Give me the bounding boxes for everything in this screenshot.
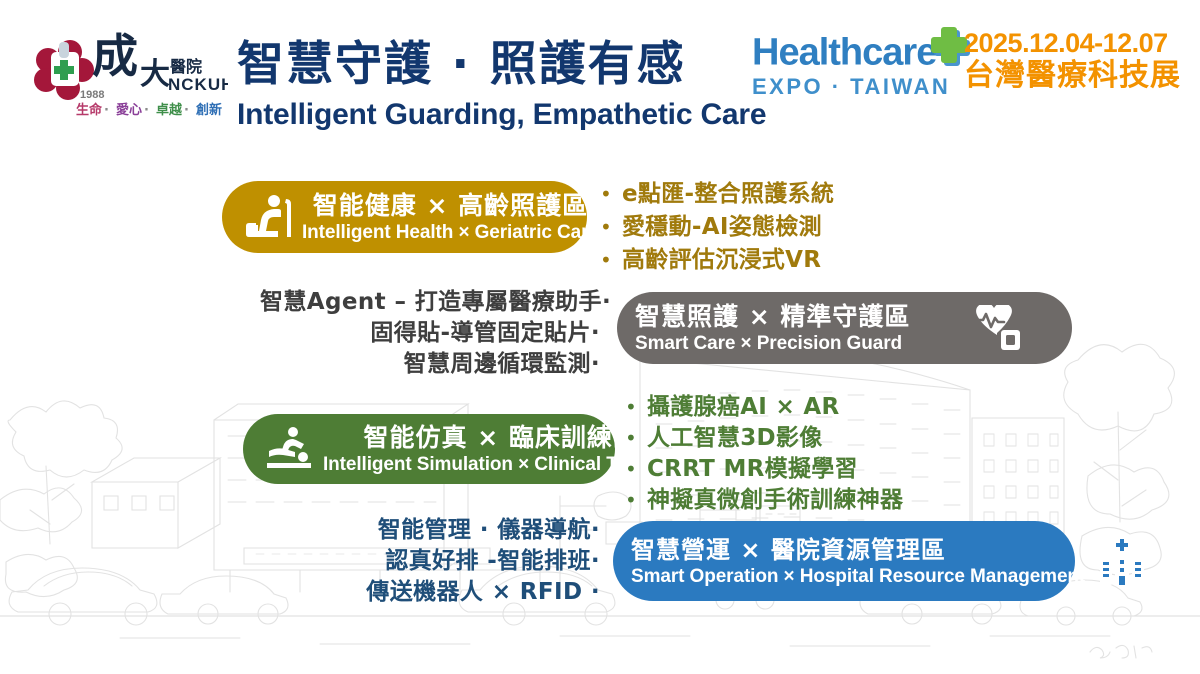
- poster-canvas: 成 大 醫院 NCKUH 1988 生命 · 愛心 · 卓越 · 創新: [0, 0, 1200, 674]
- page-title-en: Intelligent Guarding, Empathetic Care: [237, 96, 766, 134]
- list-item: 智能管理 · 儀器導航·: [330, 515, 600, 546]
- list-item-label: 愛穩動-AI姿態檢測: [622, 211, 822, 244]
- list-item: • 神擬真微創手術訓練神器: [625, 485, 903, 516]
- expo-name-zh: 台灣醫療科技展: [964, 59, 1194, 93]
- logo-hospital-zh: 醫院: [170, 57, 202, 76]
- logo-cheng-glyph: 成: [92, 29, 138, 83]
- section-title-zh: 智能仿真 × 臨床訓練區: [363, 423, 638, 453]
- expo-healthcare-wordmark: Healthcare®: [752, 28, 948, 73]
- list-item: • 人工智慧3D影像: [625, 423, 903, 454]
- cpr-simulation-training-icon: [267, 427, 317, 471]
- feature-list-clinical-training: • 攝護腺癌AI × AR • 人工智慧3D影像 • CRRT MR模擬學習 •…: [625, 392, 903, 516]
- elderly-person-with-cane-icon: [244, 193, 296, 241]
- bullet-icon: •: [625, 392, 647, 423]
- page-title-zh: 智慧守護 · 照護有感: [237, 36, 766, 94]
- list-item: 智慧周邊循環監測·: [260, 349, 600, 380]
- tagline-part-4: 創新: [195, 102, 222, 118]
- expo-taiwan-subtitle: EXPO · TAIWAN: [752, 74, 948, 100]
- list-item-label: 攝護腺癌AI × AR: [647, 392, 839, 423]
- poster-title-block: 智慧守護 · 照護有感 Intelligent Guarding, Empath…: [237, 36, 766, 134]
- list-item: • 攝護腺癌AI × AR: [625, 392, 903, 423]
- list-item: 傳送機器人 × RFID ·: [330, 577, 600, 608]
- nckuh-hospital-logo: 成 大 醫院 NCKUH 1988 生命 · 愛心 · 卓越 · 創新: [18, 22, 228, 120]
- tagline-part-1: 生命: [76, 102, 103, 118]
- feature-list-hospital-resource-management: 智能管理 · 儀器導航· 認真好排 -智能排班· 傳送機器人 × RFID ·: [330, 515, 600, 608]
- expo-date-range: 2025.12.04-12.07: [964, 28, 1194, 58]
- list-item-label: 人工智慧3D影像: [647, 423, 823, 454]
- section-pill-clinical-training[interactable]: 智能仿真 × 臨床訓練區 Intelligent Simulation × Cl…: [243, 414, 615, 484]
- section-title-en: Smart Operation × Hospital Resource Mana…: [631, 565, 1085, 588]
- heart-pulse-monitor-icon: [974, 305, 1022, 351]
- bullet-icon: •: [600, 211, 622, 244]
- tagline-part-3: 卓越: [156, 102, 183, 118]
- section-title-zh: 智慧營運 × 醫院資源管理區: [631, 535, 946, 565]
- list-item: • CRRT MR模擬學習: [625, 454, 903, 485]
- section-title-en: Intelligent Health × Geriatric Care: [302, 221, 599, 244]
- feature-list-precision-guard: 智慧Agent – 打造專屬醫療助手· 固得貼-導管固定貼片· 智慧周邊循環監測…: [260, 287, 600, 380]
- tagline-part-2: 愛心: [116, 102, 142, 118]
- bullet-icon: •: [625, 485, 647, 516]
- poster-header: 成 大 醫院 NCKUH 1988 生命 · 愛心 · 卓越 · 創新: [0, 0, 1200, 160]
- section-title-zh: 智慧照護 × 精準守護區: [635, 302, 910, 332]
- section-pill-precision-guard[interactable]: 智慧照護 × 精準守護區 Smart Care × Precision Guar…: [617, 292, 1072, 364]
- healthcare-expo-logo: Healthcare® EXPO · TAIWAN 2025.12.04-12.…: [752, 28, 1192, 110]
- svg-text:·: ·: [104, 103, 109, 118]
- list-item: 固得貼-導管固定貼片·: [260, 318, 600, 349]
- section-pill-hospital-resource-management[interactable]: 智慧營運 × 醫院資源管理區 Smart Operation × Hospita…: [613, 521, 1075, 601]
- section-title-en: Smart Care × Precision Guard: [635, 332, 902, 355]
- logo-founding-year: 1988: [80, 89, 104, 101]
- section-title-zh: 智能健康 × 高齡照護區: [313, 191, 588, 221]
- logo-da-glyph: 大: [140, 57, 170, 92]
- list-item-label: e點匯-整合照護系統: [622, 178, 834, 211]
- list-item-label: 高齡評估沉浸式VR: [622, 244, 821, 277]
- svg-text:·: ·: [144, 103, 149, 118]
- bullet-icon: •: [600, 178, 622, 211]
- bullet-icon: •: [600, 244, 622, 277]
- bullet-icon: •: [625, 454, 647, 485]
- list-item: • 高齡評估沉浸式VR: [600, 244, 834, 277]
- bullet-icon: •: [625, 423, 647, 454]
- list-item: • e點匯-整合照護系統: [600, 178, 834, 211]
- list-item: • 愛穩動-AI姿態檢測: [600, 211, 834, 244]
- svg-text:·: ·: [184, 103, 189, 118]
- list-item-label: CRRT MR模擬學習: [647, 454, 858, 485]
- feature-list-geriatric-care: • e點匯-整合照護系統 • 愛穩動-AI姿態檢測 • 高齡評估沉浸式VR: [600, 178, 834, 277]
- list-item-label: 神擬真微創手術訓練神器: [647, 485, 903, 516]
- section-pill-geriatric-care[interactable]: 智能健康 × 高齡照護區 Intelligent Health × Geriat…: [222, 181, 587, 253]
- logo-tagline: 生命 · 愛心 · 卓越 · 創新: [76, 102, 222, 118]
- list-item: 認真好排 -智能排班·: [330, 546, 600, 577]
- hospital-building-icon: [1099, 536, 1145, 586]
- list-item: 智慧Agent – 打造專屬醫療助手·: [260, 287, 600, 318]
- logo-nckuh-text: NCKUH: [168, 75, 228, 94]
